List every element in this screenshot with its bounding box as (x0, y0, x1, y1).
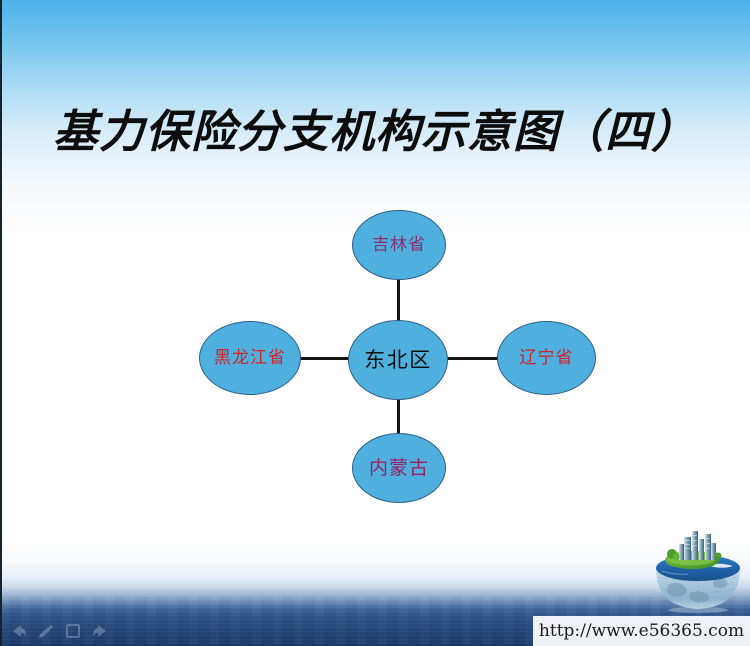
pen-icon[interactable] (37, 623, 55, 639)
node-label: 内蒙古 (369, 459, 429, 478)
diagram-node-neimenggu[interactable]: 内蒙古 (352, 433, 446, 503)
node-label: 东北区 (364, 350, 432, 371)
forward-arrow-icon[interactable] (91, 623, 109, 639)
diagram-node-center-dongbeiqu[interactable]: 东北区 (348, 320, 448, 400)
logo-reflection (668, 607, 728, 613)
org-diagram: 吉林省 黑龙江省 东北区 辽宁省 内蒙古 (0, 0, 750, 646)
diagram-node-liaoning[interactable]: 辽宁省 (497, 321, 596, 395)
back-arrow-icon[interactable] (10, 623, 28, 639)
edge-center-to-right (442, 357, 502, 360)
edge-center-to-left (294, 357, 354, 360)
watermark-url-bar: http://www.e56365.com (533, 616, 750, 646)
slideshow-navbar[interactable] (10, 620, 120, 642)
globe-city-logo (652, 527, 744, 613)
node-label: 黑龙江省 (214, 350, 286, 367)
diagram-node-heilongjiang[interactable]: 黑龙江省 (199, 321, 301, 395)
edge-center-to-top (397, 272, 400, 326)
node-label: 吉林省 (372, 237, 426, 254)
slide: 基力保险分支机构示意图（四） 吉林省 黑龙江省 东北区 辽宁省 内蒙古 (0, 0, 750, 646)
node-label: 辽宁省 (520, 350, 574, 367)
diagram-node-jilin[interactable]: 吉林省 (352, 210, 446, 280)
watermark-url-text: http://www.e56365.com (539, 621, 744, 641)
city-skyline (679, 531, 716, 560)
page-icon[interactable] (64, 623, 82, 639)
